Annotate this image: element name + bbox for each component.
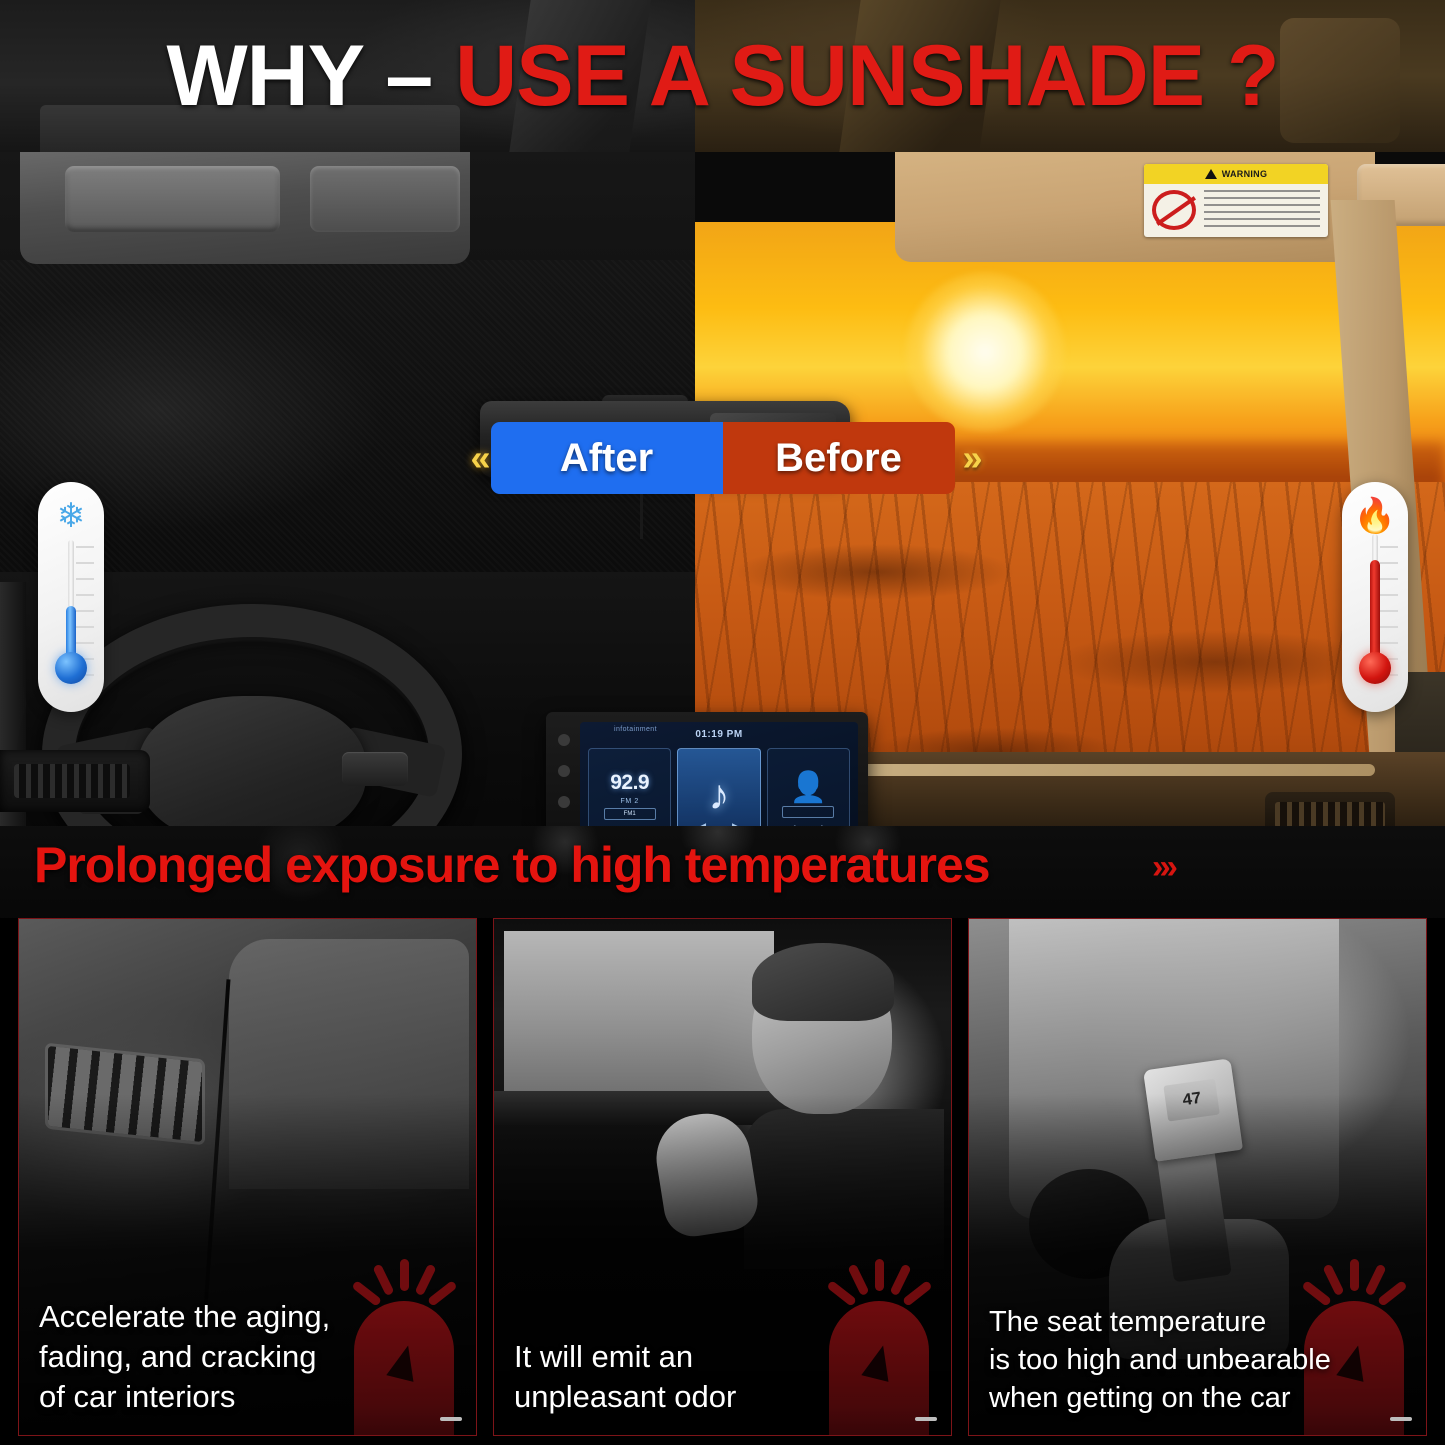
warning-triangle-icon xyxy=(1205,169,1217,179)
caption-line: Accelerate the aging, xyxy=(39,1297,458,1337)
steering-controls-right xyxy=(342,752,408,786)
panel-aging: Accelerate the aging, fading, and cracki… xyxy=(18,918,477,1436)
flame-icon: 🔥 xyxy=(1342,496,1408,536)
visor-panel-left-2 xyxy=(310,166,460,232)
chevron-right-icon: » xyxy=(963,440,975,476)
radio-frequency: 92.9 xyxy=(610,771,649,795)
radio-band: FM 2 xyxy=(620,798,638,805)
thermometer-bulb-hot xyxy=(1359,652,1391,684)
panel-dash-marker xyxy=(1390,1417,1412,1421)
page-title-white: WHY – xyxy=(166,28,455,124)
volume-knob-icon[interactable] xyxy=(558,765,570,777)
car-window xyxy=(504,931,774,1096)
before-after-badges: « After Before » xyxy=(0,417,1445,499)
cold-thermometer: ❄ xyxy=(38,482,104,712)
before-badge: Before xyxy=(723,422,955,494)
page-title-red: USE A SUNSHADE ? xyxy=(455,28,1278,124)
caption-line: unpleasant odor xyxy=(514,1377,933,1417)
airbag-warning-label: WARNING xyxy=(1144,164,1328,237)
panel-caption: The seat temperature is too high and unb… xyxy=(989,1303,1408,1417)
caption-line: of car interiors xyxy=(39,1377,458,1417)
infotainment-status-bar: 01:19 PM xyxy=(580,726,858,742)
hero-comparison: WARNING infotainment 01:1 xyxy=(0,152,1445,840)
radio-preset-button[interactable]: FM1 xyxy=(604,808,656,820)
warning-label-band: WARNING xyxy=(1144,164,1328,184)
caption-line: when getting on the car xyxy=(989,1379,1408,1417)
caption-line: The seat temperature xyxy=(989,1303,1408,1341)
steering-wheel-hub xyxy=(138,696,366,840)
sun-visor-right: WARNING xyxy=(895,152,1375,262)
tagline-chevrons-icon: ››› xyxy=(1152,848,1174,887)
sun-icon xyxy=(905,272,1065,432)
tagline-text: Prolonged exposure to high temperatures xyxy=(34,836,990,894)
panel-dash-marker xyxy=(440,1417,462,1421)
thermometer-tube-cold xyxy=(68,540,74,608)
infotainment-screen[interactable]: infotainment 01:19 PM 92.9 FM 2 FM1 ◀ ▶ … xyxy=(580,722,858,840)
tagline-band: Prolonged exposure to high temperatures … xyxy=(0,826,1445,918)
panel-odor: It will emit an unpleasant odor xyxy=(493,918,952,1436)
caption-line: fading, and cracking xyxy=(39,1337,458,1377)
after-badge: After xyxy=(491,422,723,494)
dashboard-trim xyxy=(815,764,1375,776)
music-note-icon: ♪ xyxy=(708,774,729,816)
header-banner: WHY – USE A SUNSHADE ? xyxy=(0,0,1445,152)
speaker-icon[interactable] xyxy=(558,796,570,808)
panel-seat-temperature: 47 The seat temperature is too high and … xyxy=(968,918,1427,1436)
snowflake-icon: ❄ xyxy=(38,496,104,536)
infotainment-head-unit[interactable]: infotainment 01:19 PM 92.9 FM 2 FM1 ◀ ▶ … xyxy=(546,712,868,840)
panel-caption: It will emit an unpleasant odor xyxy=(514,1337,933,1417)
person-hair xyxy=(752,943,894,1021)
caption-line: It will emit an xyxy=(514,1337,933,1377)
person-icon: 👤 xyxy=(790,773,827,803)
phone-status-field xyxy=(782,806,834,818)
caption-line: is too high and unbearable xyxy=(989,1341,1408,1379)
sun-visor-left xyxy=(20,152,470,264)
warning-label-heading: WARNING xyxy=(1222,169,1268,179)
consequence-panels: Accelerate the aging, fading, and cracki… xyxy=(0,918,1445,1445)
visor-panel-left xyxy=(65,166,280,232)
warning-label-text-lines xyxy=(1204,190,1320,232)
infotainment-side-buttons[interactable] xyxy=(555,734,573,840)
thermometer-bulb-cold xyxy=(55,652,87,684)
power-knob-icon[interactable] xyxy=(558,734,570,746)
chevron-left-icon: « xyxy=(470,440,482,476)
panel-caption: Accelerate the aging, fading, and cracki… xyxy=(39,1297,458,1417)
clock-readout: 01:19 PM xyxy=(695,729,742,740)
hot-thermometer: 🔥 xyxy=(1342,482,1408,712)
no-rear-facing-child-seat-icon xyxy=(1152,190,1196,230)
air-vent-left xyxy=(0,750,150,812)
panel-dash-marker xyxy=(915,1417,937,1421)
page-title: WHY – USE A SUNSHADE ? xyxy=(0,28,1445,124)
